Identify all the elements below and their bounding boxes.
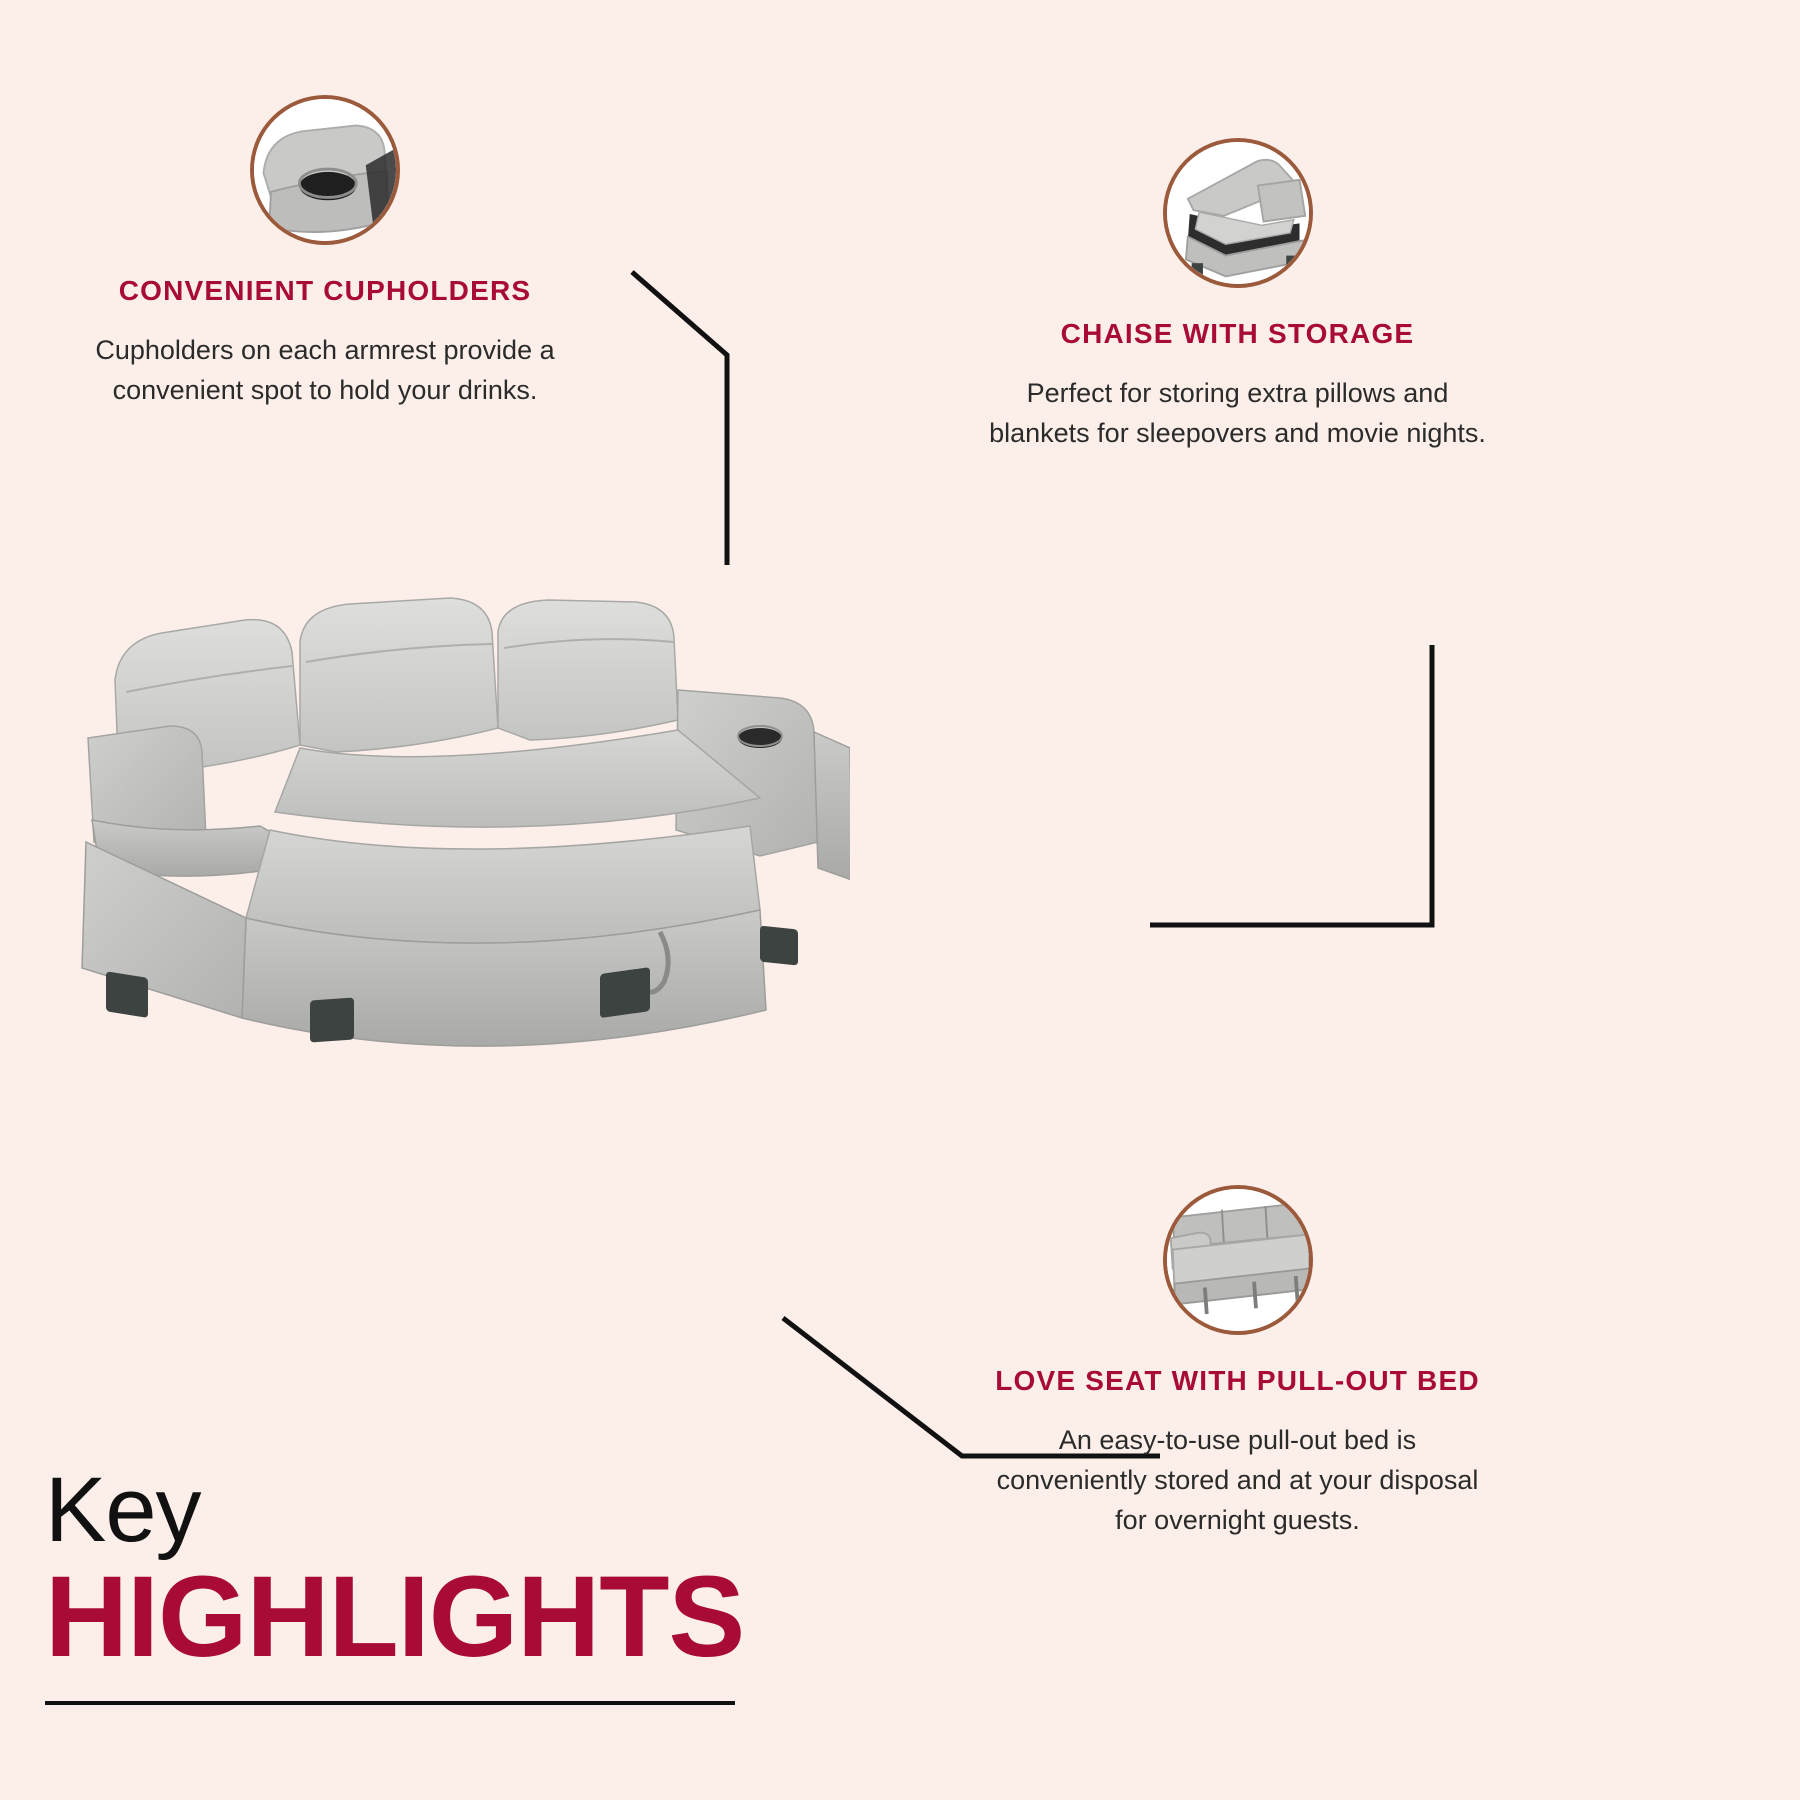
title-underline-rule (45, 1701, 735, 1705)
infographic-canvas: CONVENIENT CUPHOLDERS Cupholders on each… (0, 0, 1800, 1800)
page-title-highlights: HIGHLIGHTS (45, 1560, 805, 1675)
callout-title: CHAISE WITH STORAGE (985, 316, 1490, 352)
feature-callout-cupholders: CONVENIENT CUPHOLDERS Cupholders on each… (75, 95, 575, 411)
feature-callout-loveseat-pullout-bed: LOVE SEAT WITH PULL-OUT BED An easy-to-u… (985, 1185, 1490, 1541)
callout-body: Perfect for storing extra pillows and bl… (985, 374, 1490, 454)
page-title-key: Key (45, 1466, 805, 1554)
connector-chaise (1150, 645, 1432, 925)
connector-cupholders (632, 272, 727, 565)
product-image-sectional-sofa (60, 580, 850, 1150)
callout-body: Cupholders on each armrest provide a con… (75, 331, 575, 411)
chaise-lifted-storage-icon (1163, 138, 1313, 288)
sofa-armrest-cupholder-icon (250, 95, 400, 245)
callout-body: An easy-to-use pull-out bed is convenien… (985, 1421, 1490, 1541)
callout-title: CONVENIENT CUPHOLDERS (75, 273, 575, 309)
feature-callout-chaise-storage: CHAISE WITH STORAGE Perfect for storing … (985, 138, 1490, 454)
loveseat-pullout-bed-icon (1163, 1185, 1313, 1335)
page-title-block: Key HIGHLIGHTS (45, 1466, 805, 1705)
callout-title: LOVE SEAT WITH PULL-OUT BED (985, 1363, 1490, 1399)
